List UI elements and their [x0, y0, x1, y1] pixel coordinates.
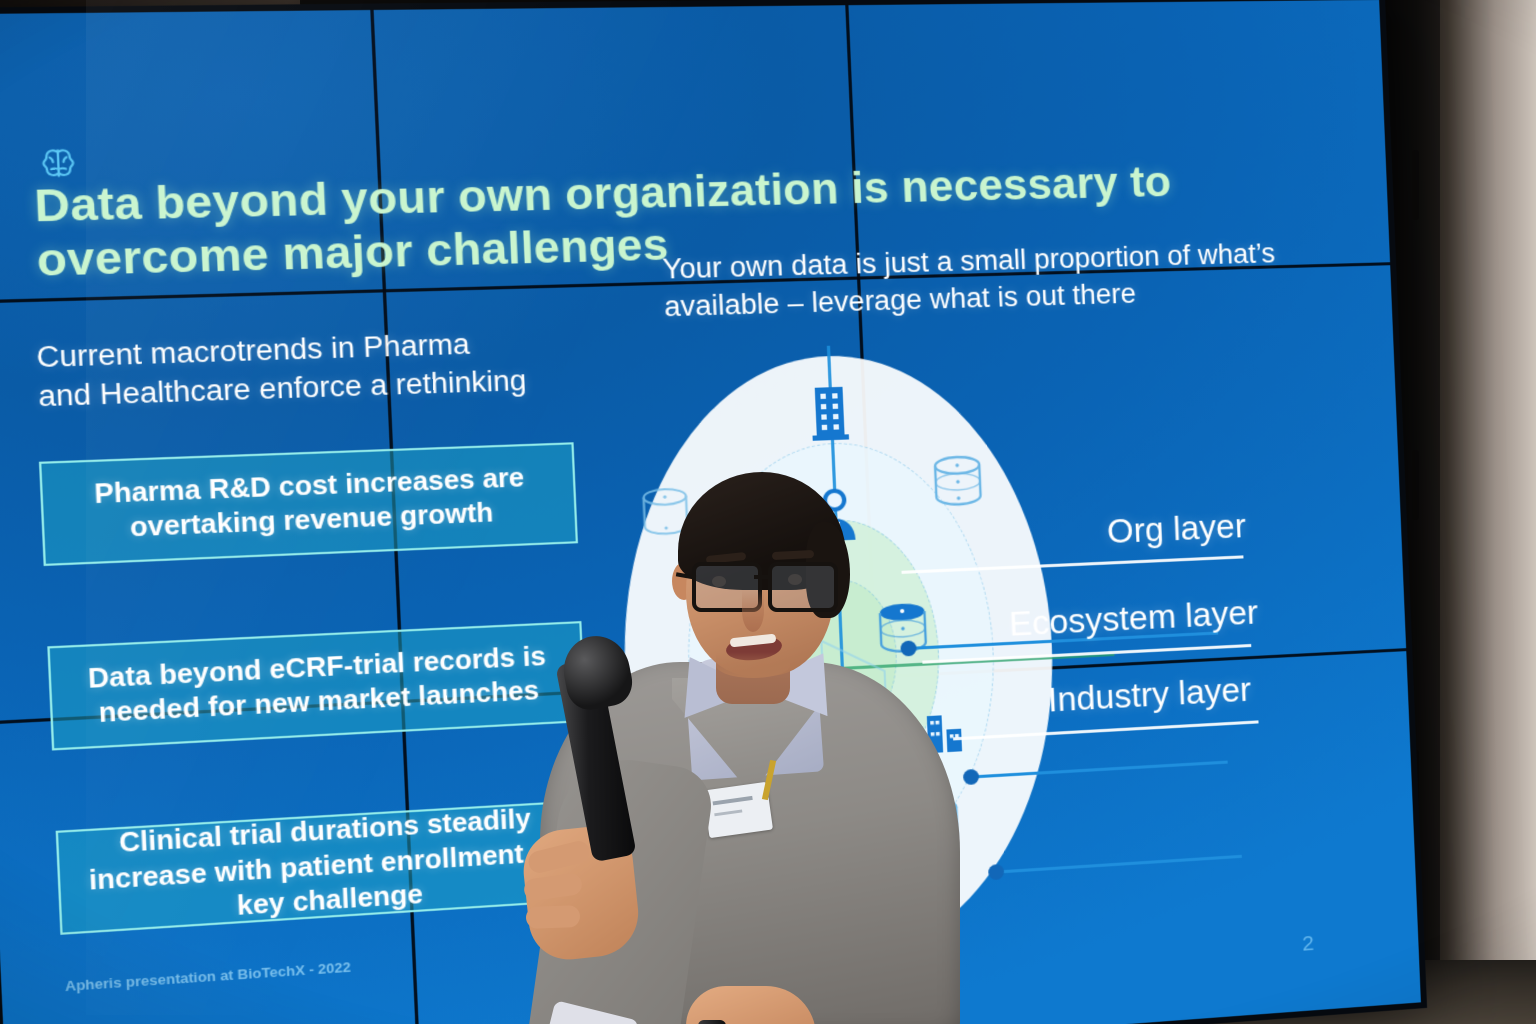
wall-seam-2	[1412, 450, 1419, 520]
glasses-icon	[692, 562, 836, 606]
left-column-subtitle: Current macrotrends in Pharma and Health…	[36, 323, 530, 417]
layer-label-org: Org layer	[1106, 507, 1246, 552]
callout-box-1: Pharma R&D cost increases are overtaking…	[39, 442, 578, 566]
wall-seam-1	[1412, 150, 1419, 220]
connector-dot-industry	[988, 864, 1004, 880]
screenshot-stage: Data beyond your own organization is nec…	[0, 0, 1536, 1024]
slide-footer: Apheris presentation at BioTechX - 2022	[65, 959, 352, 994]
callout-box-2: Data beyond eCRF-trial records is needed…	[47, 621, 586, 750]
presenter-chin	[716, 652, 790, 678]
connector-line-industry	[995, 855, 1242, 874]
layer-label-industry: Industry layer	[1047, 670, 1252, 719]
name-badge	[703, 782, 773, 838]
presenter-nose	[742, 590, 764, 632]
name-badge-line-1	[713, 796, 753, 806]
glasses-bridge	[754, 575, 770, 579]
presenter-finger-3	[526, 905, 581, 929]
callout-box-3: Clinical trial durations steadily increa…	[56, 800, 594, 935]
name-badge-line-2	[714, 809, 742, 816]
microphone-stand	[698, 1020, 726, 1024]
glasses-lens-right	[768, 562, 838, 612]
right-column-subtitle: Your own data is just a small proportion…	[662, 234, 1334, 327]
slide-page-number: 2	[1302, 932, 1315, 957]
presenter-person	[520, 430, 990, 1024]
